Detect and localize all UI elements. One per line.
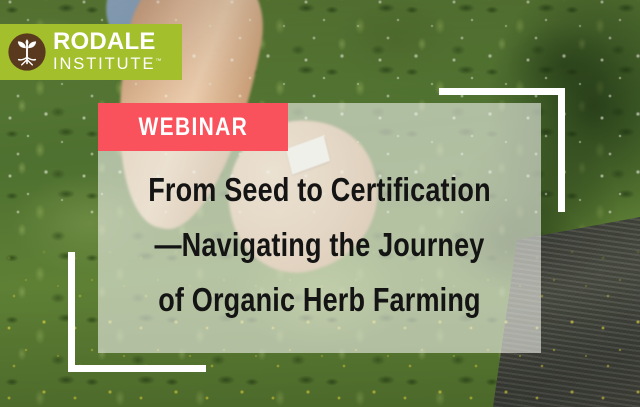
page-title: From Seed to Certification —Navigating t… (98, 162, 541, 327)
brand-name-bottom: INSTITUTE™ (53, 56, 161, 73)
trademark-symbol: ™ (155, 58, 161, 64)
title-line-3: of Organic Herb Farming (138, 272, 501, 327)
brand-name-top: RODALE (53, 30, 161, 54)
badge-label: WEBINAR (138, 113, 248, 142)
brand-wordmark: RODALE INSTITUTE™ (53, 30, 161, 75)
brand-logo-banner[interactable]: RODALE INSTITUTE™ (0, 24, 182, 80)
brand-name-bottom-text: INSTITUTE (53, 55, 155, 73)
webinar-promo-card: WEBINAR From Seed to Certification —Navi… (0, 0, 640, 407)
title-line-1: From Seed to Certification (138, 162, 501, 217)
title-line-2: —Navigating the Journey (138, 217, 501, 272)
status-badge: WEBINAR (98, 103, 288, 151)
sprout-roots-icon (8, 33, 46, 71)
